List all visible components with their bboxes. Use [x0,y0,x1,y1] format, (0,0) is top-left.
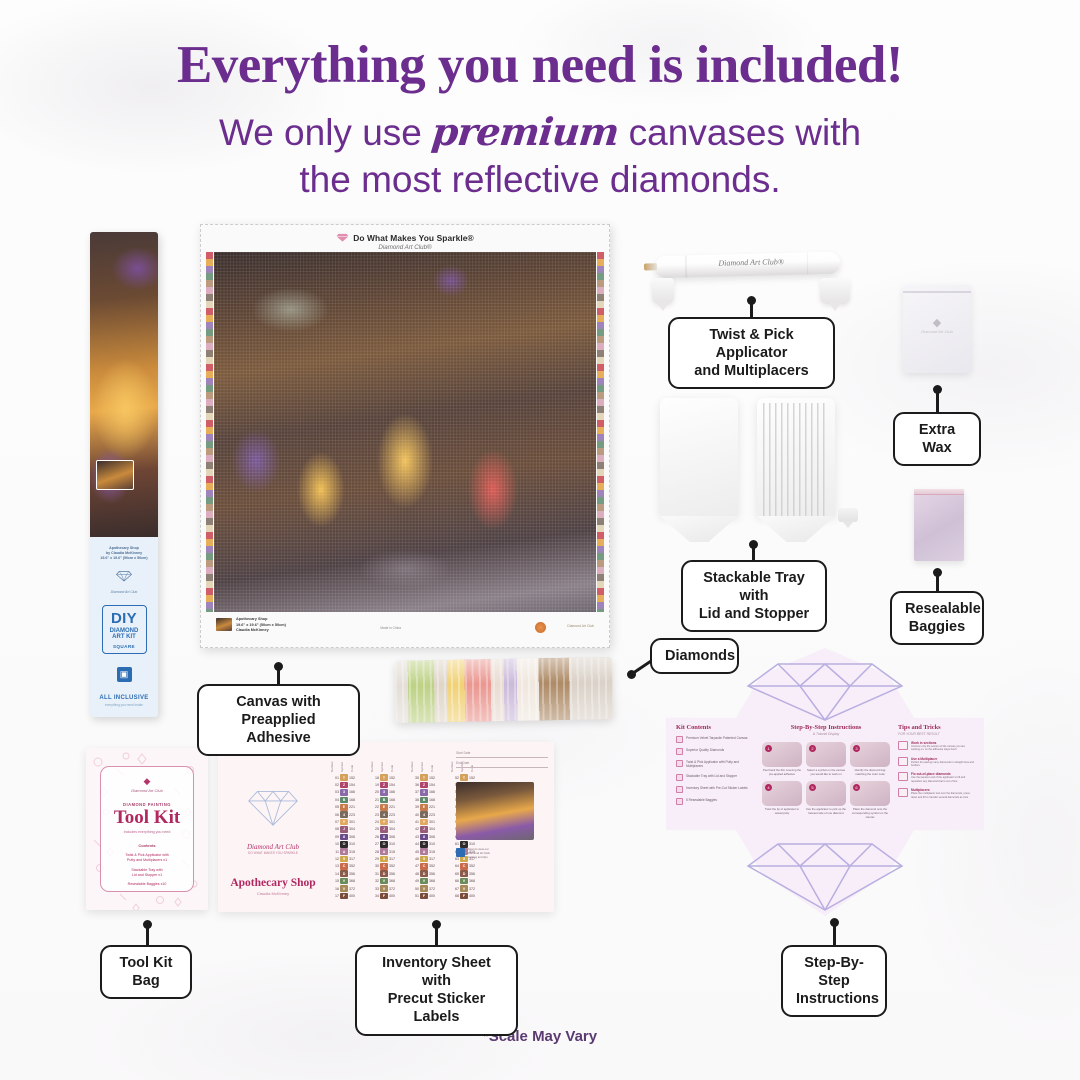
canvas-footer-thumbnail [216,618,232,631]
tips-subheading: FOR YOUR BEST RESULT [898,732,974,736]
inventory-color-code: 166 [429,790,441,794]
instruction-step-image: 4 [762,781,802,806]
leader-line [146,924,149,946]
inventory-color-swatch: 5 [380,856,388,863]
tray-grooves [763,403,829,516]
inventory-color-code: 223 [389,813,401,817]
inventory-row-number: 27 [370,842,379,846]
inventory-row-number: 47 [410,864,419,868]
tip-item-icon [898,772,908,781]
inventory-row: 203166 [370,789,401,796]
steps-grid: 1Peel back the film covering the pre-app… [762,742,890,819]
canvas-product: Do What Makes You Sparkle® Diamond Art C… [200,224,610,648]
product-box: Apothecary Shop by Claudia McKinney 19.6… [90,232,158,717]
leader-line [435,924,438,946]
inventory-row-number: 36 [410,783,419,787]
kit-contents-item: Inventory Sheet with Pre-Cut Sticker Lab… [676,786,754,793]
diy-badge-drill-type: SQUARE [105,644,144,649]
kit-contents-item-icon [676,774,683,781]
inventory-row-number: 11 [330,850,339,854]
diamonds-bag-sheen [394,657,613,723]
inventory-color-swatch: 4 [340,811,348,818]
inventory-row: 45A315 [410,848,441,855]
inventory-color-code: 154 [429,783,441,787]
inventory-color-swatch: V [420,878,428,885]
inventory-row: 17F400 [330,892,361,899]
inventory-color-swatch: A [380,848,388,855]
canvas-footer: Apothecary Shop 19.6" x 19.6" (50cm x 50… [200,616,610,642]
inventory-color-swatch: F [380,893,388,900]
instruction-step: 6Place the diamond onto the correspondin… [850,781,890,819]
inventory-color-code: 400 [349,894,361,898]
inventory-color-code: 168 [429,798,441,802]
inventory-field-label: Start Date [456,751,470,755]
inventory-color-code: 352 [349,864,361,868]
box-artwork-image [90,232,158,537]
applicator-brand-script: Diamond Art Club® [718,257,784,268]
inventory-color-swatch: O [420,841,428,848]
inventory-color-swatch: V [340,885,348,892]
inventory-row: 41Y301 [410,818,441,825]
inventory-color-swatch: Z [340,782,348,789]
instruction-sheet: Kit Contents Premium Velvet Tarpaulin Pa… [666,648,984,916]
instruction-step-number: 6 [853,784,860,791]
infographic-stage: Everything you need is included! We only… [0,0,1080,1080]
inventory-color-code: 372 [469,887,481,891]
inventory-field-start: Start Date [456,752,548,758]
inventory-color-code: 152 [429,776,441,780]
kit-contents-item-icon [676,748,683,755]
inventory-row-number: 24 [370,820,379,824]
inventory-color-code: 400 [429,894,441,898]
inventory-field-end: End Date [456,762,548,768]
inventory-color-code: 306 [349,835,361,839]
inventory-color-swatch: Y [380,819,388,826]
diamond-icon: ◆ [101,776,193,787]
inventory-field-label: End Date [456,761,469,765]
inventory-row-number: 48 [410,872,419,876]
inventory-row: 44O310 [410,841,441,848]
inventory-table-group: NumberSymbolCode01T15202Z15403316604B168… [330,750,361,900]
diamond-outline-icon-bottom [744,842,906,914]
inventory-row: 48D356 [410,870,441,877]
inventory-row: 438306 [410,833,441,840]
callout-stackable-tray: Stackable Tray with Lid and Stopper [681,560,827,632]
leader-line [936,389,939,413]
multiplacer-large [820,278,850,304]
twist-pick-applicator: Diamond Art Club® [655,252,840,279]
subtitle-part-b: canvases with [618,112,861,153]
canvas-footer-artist: Claudia McKinney [236,628,286,634]
inventory-row-number: 28 [370,850,379,854]
diamond-outline-icon-top [744,650,906,722]
inventory-color-code: 221 [389,805,401,809]
kit-contents-item: Twist & Pick Applicator with Putty and M… [676,760,754,769]
tip-item-text: Uncover only the section of the canvas y… [911,745,974,752]
inventory-color-code: 221 [429,805,441,809]
instruction-step-image: 5 [806,781,846,806]
kit-contents-item: Stackable Tray with Lid and Stopper [676,774,754,781]
toolkit-content-item: Resealable Baggies x10 [101,882,193,887]
toolkit-content-item: Twist & Pick Applicator with Putty and M… [101,853,193,863]
inventory-row: 21B168 [370,796,401,803]
inventory-color-swatch: 5 [420,856,428,863]
box-thumbnail-image [96,460,134,490]
canvas-footer-origin: Made in China [380,626,401,630]
canvas-color-legend-left [206,252,213,612]
instruction-step-number: 2 [809,745,816,752]
inventory-row: 07Y301 [330,818,361,825]
inventory-row: 36Z154 [410,781,441,788]
inventory-color-swatch: J [420,826,428,833]
inventory-row-number: 14 [330,872,339,876]
inventory-column-header: Symbol [380,750,389,772]
inventory-row-number: 10 [330,842,339,846]
toolkit-brand: Diamond Art Club [101,788,193,793]
inventory-color-swatch: T [420,774,428,781]
instruction-step-image: 3 [850,742,890,767]
inventory-color-swatch: F [340,893,348,900]
applicator-seam-right [806,253,808,275]
inventory-row: 404223 [410,811,441,818]
inventory-row: 16V372 [330,885,361,892]
inventory-row: 295317 [370,855,401,862]
inventory-row-number: 68 [450,894,459,898]
applicator-seam-left [685,255,687,277]
inventory-color-swatch: F [460,893,468,900]
inventory-color-code: 400 [389,894,401,898]
toolkit-label: ◆ Diamond Art Club DIAMOND PAINTING Tool… [100,766,194,892]
inventory-color-swatch: Z [380,782,388,789]
instruction-step-image: 1 [762,742,802,767]
instruction-step-text: Select a symbol on the canvas you would … [806,769,846,776]
inventory-color-code: 310 [389,842,401,846]
inventory-row: 42J304 [410,826,441,833]
inventory-color-code: 304 [429,827,441,831]
inventory-row-number: 67 [450,887,459,891]
inventory-row: 15V368 [330,877,361,884]
tips-column: Tips and Tricks FOR YOUR BEST RESULT Wor… [898,724,974,819]
inventory-color-swatch: C [460,863,468,870]
inventory-row-number: 29 [370,857,379,861]
inventory-row: 064223 [330,811,361,818]
canvas-tagline: Do What Makes You Sparkle® [353,233,474,243]
inventory-sheet: Diamond Art Club DO WHAT MAKES YOU SPARK… [218,742,554,912]
inventory-row-number: 05 [330,805,339,809]
inventory-row-number: 38 [410,798,419,802]
inventory-row: 68F400 [450,892,481,899]
inventory-row-number: 42 [410,827,419,831]
inventory-row: 47C352 [410,863,441,870]
inventory-color-swatch: J [340,826,348,833]
inventory-table-header: NumberSymbolCode [370,750,401,772]
canvas-footer-brand: Diamond Art Club [567,624,594,628]
inventory-color-swatch: 8 [340,834,348,841]
diamonds-packet-strip [394,657,613,723]
inventory-table-group: NumberSymbolCode35T15236Z15437316638B168… [410,750,441,900]
box-size-line: 19.6" x 19.6" (50cm x 50cm) [96,556,152,561]
inventory-row: 30C352 [370,863,401,870]
inventory-color-code: 304 [389,827,401,831]
subtitle-part-a: We only use [219,112,432,153]
inventory-row-number: 08 [330,827,339,831]
inventory-row-number: 65 [450,872,459,876]
toolkit-content-item: Stackable Tray with Lid and Stopper x1 [101,868,193,878]
inventory-color-code: 168 [389,798,401,802]
inventory-color-swatch: C [420,863,428,870]
canvas-drill-grid [214,252,596,612]
inventory-row: 033166 [330,789,361,796]
inventory-artist: Claudia McKinney [218,891,328,896]
inventory-color-code: 315 [349,850,361,854]
inventory-color-swatch: Y [420,819,428,826]
diamond-icon [336,232,349,243]
inventory-row-number: 06 [330,813,339,817]
inventory-color-code: 310 [429,842,441,846]
instruction-step-number: 3 [853,745,860,752]
canvas-footer-text: Apothecary Shop 19.6" x 19.6" (50cm x 50… [236,617,286,634]
inventory-color-swatch: O [380,841,388,848]
inventory-color-swatch: D [340,870,348,877]
inventory-color-swatch: Y [340,819,348,826]
qr-icon: ▣ [117,667,132,682]
inventory-row: 31D356 [370,870,401,877]
inventory-footer: Scan to view our Diamond Art Club catalo… [456,848,548,860]
inventory-row-number: 18 [370,776,379,780]
inventory-color-swatch: O [340,841,348,848]
diy-badge: DIY DIAMOND ART KIT SQUARE [102,605,147,655]
tip-item: Use a MultiplacerPerfect for placing man… [898,757,974,768]
inventory-row-number: 40 [410,813,419,817]
inventory-row: 67V372 [450,885,481,892]
inventory-color-swatch: T [380,774,388,781]
inventory-row: 39E221 [410,804,441,811]
kit-contents-item-icon [676,786,683,793]
inventory-column-header: Number [410,750,419,772]
inventory-row: 51F400 [410,892,441,899]
subtitle-premium-word: premium [430,108,621,157]
inventory-row-number: 37 [410,790,419,794]
inventory-color-code: 154 [349,783,361,787]
inventory-row-number: 19 [370,783,379,787]
box-all-inclusive-sub: everything you need inside [96,703,152,707]
inventory-row-number: 34 [370,894,379,898]
inventory-row: 64C352 [450,863,481,870]
inventory-row-number: 33 [370,887,379,891]
inventory-color-swatch: J [380,826,388,833]
inventory-row: 10O310 [330,841,361,848]
kit-contents-item: Premium Velvet Tarpaulin Patented Canvas [676,736,754,743]
inventory-footer-note: Scan to view our Diamond Art Club catalo… [468,848,490,860]
callout-extra-wax: Extra Wax [893,412,981,466]
footnote: *Scale May Vary [0,1028,1080,1045]
inventory-color-code: 368 [349,879,361,883]
inventory-table-header: NumberSymbolCode [410,750,441,772]
instruction-step-number: 1 [765,745,772,752]
inventory-color-code: 352 [429,864,441,868]
inventory-row: 65D356 [450,870,481,877]
inventory-brand-sub: DO WHAT MAKES YOU SPARKLE [218,851,328,855]
multiplacer-small [652,278,674,304]
inventory-row-number: 39 [410,805,419,809]
stackable-tray-body [757,398,835,516]
inventory-row: 11A315 [330,848,361,855]
inventory-column-header: Number [370,750,379,772]
tip-item-text: Use the tweezer end of the applicator to… [911,776,974,783]
inventory-row-number: 09 [330,835,339,839]
inventory-color-swatch: A [420,848,428,855]
kit-contents-list: Premium Velvet Tarpaulin Patented Canvas… [676,736,754,805]
applicator-tip [644,263,657,270]
page-title: Everything you need is included! [0,38,1080,94]
inventory-color-code: 166 [389,790,401,794]
inventory-row: 02Z154 [330,781,361,788]
leader-line [936,572,939,592]
inventory-color-swatch: B [420,797,428,804]
inventory-preview-image [456,782,534,840]
tip-item-text: Place the multiplacer tool over the diam… [911,792,974,799]
instruction-step: 1Peel back the film covering the pre-app… [762,742,802,776]
qr-icon [456,848,465,857]
diamond-icon: ◆ [921,316,952,329]
stackable-tray-lid [660,398,738,516]
diamond-outline-icon [247,786,299,828]
inventory-color-code: 356 [389,872,401,876]
inventory-right-panel: Start Date End Date Scan to view our Dia… [456,752,548,860]
callout-resealable-baggies: Resealable Baggies [890,591,984,645]
kit-contents-item-icon [676,798,683,805]
inventory-left-panel: Diamond Art Club DO WHAT MAKES YOU SPARK… [218,742,328,912]
canvas-seal-icon [535,622,546,633]
inventory-row: 373166 [410,789,441,796]
inventory-row: 66V368 [450,877,481,884]
inventory-brand: Diamond Art Club [218,843,328,851]
diy-badge-title: DIY [105,611,144,626]
inventory-row-number: 23 [370,813,379,817]
instruction-step: 2Select a symbol on the canvas you would… [806,742,846,776]
inventory-row: 19Z154 [370,781,401,788]
inventory-color-code: 317 [349,857,361,861]
kit-contents-item-label: Premium Velvet Tarpaulin Patented Canvas [686,736,747,740]
kit-contents-item-label: 5 Resealable Baggies [686,798,717,802]
inventory-color-code: 154 [389,783,401,787]
diamond-icon [116,570,132,582]
inventory-color-swatch: E [340,804,348,811]
inventory-color-swatch: 3 [380,789,388,796]
inventory-row: 32V368 [370,877,401,884]
inventory-color-swatch: D [380,870,388,877]
toolkit-tagline: Includes everything you need [101,830,193,834]
inventory-row: 268306 [370,833,401,840]
inventory-color-code: 317 [429,857,441,861]
inventory-row: 465317 [410,855,441,862]
inventory-color-swatch: V [380,885,388,892]
instruction-step-text: Identify the diamond bag matching the co… [850,769,890,776]
inventory-color-swatch: E [380,804,388,811]
inventory-row-number: 64 [450,864,459,868]
tips-list: Work in sectionsUncover only the section… [898,741,974,799]
tip-item-text: Perfect for placing many diamonds in str… [911,761,974,768]
instruction-step-text: Place the diamond onto the corresponding… [850,808,890,819]
inventory-row: 28A315 [370,848,401,855]
inventory-color-swatch: 4 [420,811,428,818]
callout-tool-kit-bag: Tool Kit Bag [100,945,192,999]
inventory-row: 08J304 [330,826,361,833]
inventory-row-number: 31 [370,872,379,876]
inventory-color-swatch: V [420,885,428,892]
headline-block: Everything you need is included! We only… [0,38,1080,204]
inventory-color-code: 301 [349,820,361,824]
inventory-row-number: 07 [330,820,339,824]
instruction-step: 3Identify the diamond bag matching the c… [850,742,890,776]
inventory-row-number: 21 [370,798,379,802]
inventory-color-swatch: 3 [420,789,428,796]
kit-contents-item: Superior Quality Diamonds [676,748,754,755]
resealable-baggie [914,489,964,561]
kit-contents-item-label: Twist & Pick Applicator with Putty and M… [686,760,754,769]
inventory-color-code: 304 [349,827,361,831]
inventory-row: 49V368 [410,877,441,884]
inventory-row-number: 43 [410,835,419,839]
inventory-color-code: 317 [389,857,401,861]
inventory-color-swatch: E [420,804,428,811]
inventory-color-code: 301 [429,820,441,824]
inventory-column-header: Code [390,750,399,772]
inventory-row: 27O310 [370,841,401,848]
box-brand-script: Diamond Art Club [96,590,152,594]
inventory-row-number: 22 [370,805,379,809]
kit-contents-item-label: Stackable Tray with Lid and Stopper [686,774,737,778]
inventory-row: 01T152 [330,774,361,781]
inventory-color-code: 166 [349,790,361,794]
inventory-color-code: 221 [349,805,361,809]
inventory-row: 22E221 [370,804,401,811]
callout-instructions: Step-By-Step Instructions [781,945,887,1017]
inventory-row: 33V372 [370,885,401,892]
inventory-color-code: 306 [429,835,441,839]
canvas-header: Do What Makes You Sparkle® Diamond Art C… [200,224,610,250]
diy-badge-subtitle: DIAMOND ART KIT [105,628,144,642]
inventory-row: 05E221 [330,804,361,811]
steps-heading: Step-By-Step Instructions [762,724,890,731]
inventory-row-number: 45 [410,850,419,854]
box-all-inclusive-label: ALL INCLUSIVE [96,695,152,701]
toolkit-title: Tool Kit [101,808,193,827]
inventory-row-number: 15 [330,879,339,883]
inventory-color-swatch: F [420,893,428,900]
inventory-color-swatch: C [340,863,348,870]
canvas-brand-script: Diamond Art Club® [200,244,610,251]
inventory-color-swatch: 5 [340,856,348,863]
inventory-color-code: 368 [429,879,441,883]
wax-brand-script: Diamond Art Club [921,329,952,334]
inventory-color-swatch: 8 [420,834,428,841]
inventory-row-number: 41 [410,820,419,824]
inventory-row-number: 02 [330,783,339,787]
kit-contents-item-icon [676,760,683,767]
inventory-color-code: 368 [389,879,401,883]
tip-item-icon [898,741,908,750]
inventory-color-swatch: V [460,878,468,885]
inventory-color-swatch: T [340,774,348,781]
inventory-row: 125317 [330,855,361,862]
kit-contents-item-label: Superior Quality Diamonds [686,748,724,752]
inventory-row-number: 25 [370,827,379,831]
inventory-row-number: 01 [330,776,339,780]
tip-item: Fix out-of-place diamondsUse the tweezer… [898,772,974,783]
instruction-step-number: 4 [765,784,772,791]
inventory-color-swatch: C [380,863,388,870]
